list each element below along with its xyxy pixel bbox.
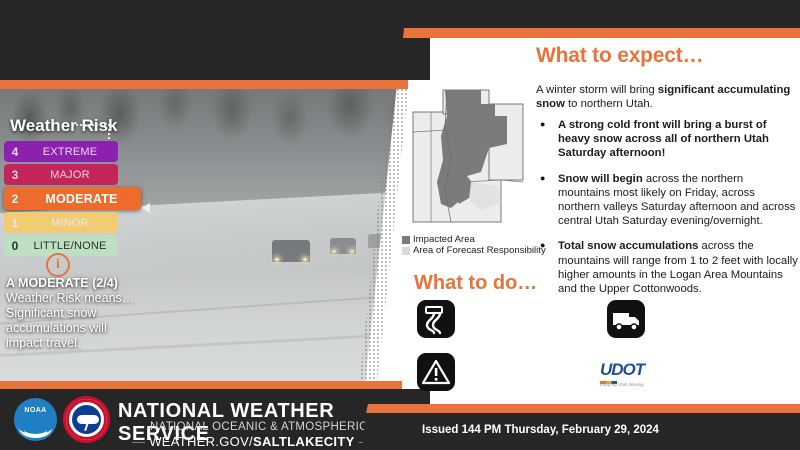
- map-legend-entry: Area of Forecast Responsibility: [402, 245, 546, 256]
- expect-bullet-bold: Total snow accumulations: [558, 240, 698, 252]
- udot-tagline: Keeping Utah Moving: [600, 382, 644, 387]
- risk-level-moderate: 2MODERATE: [4, 187, 141, 210]
- noaa-logo: NOAA: [14, 398, 57, 441]
- risk-explanation-bold: A MODERATE (2/4): [6, 276, 118, 290]
- risk-level-major: 3MAJOR: [4, 164, 118, 185]
- risk-explanation: A MODERATE (2/4) Weather Risk means… Sig…: [6, 276, 146, 351]
- expect-bullet-bold: A strong cold front will bring a burst o…: [558, 119, 769, 159]
- risk-level-number: 4: [4, 145, 26, 159]
- right-panel-top-dark: [352, 0, 800, 30]
- map-legend-label: Area of Forecast Responsibility: [413, 245, 546, 256]
- lead-part-1: A winter storm will bring: [536, 84, 658, 96]
- warning-triangle-icon: [417, 353, 455, 391]
- map-legend-entry: Impacted Area: [402, 234, 546, 245]
- footer-accent-bar: [0, 381, 402, 389]
- risk-level-extreme: 4EXTREME: [4, 141, 118, 162]
- agency-subtitle: NATIONAL OCEANIC & ATMOSPHERIC: [150, 421, 368, 433]
- map-legend: Impacted AreaArea of Forecast Responsibi…: [402, 234, 546, 256]
- risk-level-minor: 1MINOR: [4, 212, 118, 233]
- agency-website: — WEATHER.GOV/SALTLAKECITY —: [132, 434, 372, 449]
- risk-level-label: MODERATE: [26, 192, 141, 206]
- map-legend-label: Impacted Area: [413, 234, 475, 245]
- udot-wordmark: UDOT: [600, 360, 644, 380]
- risk-level-number: 2: [4, 192, 26, 206]
- what-to-expect-bullets: A strong cold front will bring a burst o…: [536, 118, 798, 307]
- expect-bullet: A strong cold front will bring a burst o…: [536, 118, 798, 161]
- todo-item-survival-kit: [417, 353, 455, 391]
- risk-explanation-rest: Weather Risk means… Significant snow acc…: [6, 291, 134, 350]
- nws-logo: [63, 396, 110, 443]
- expect-bullet: Snow will begin across the northern moun…: [536, 172, 798, 229]
- expect-bullet: Total snow accumulations across the moun…: [536, 239, 798, 296]
- issued-timestamp: Issued 144 PM Thursday, February 29, 202…: [422, 424, 659, 436]
- website-prefix: WEATHER.GOV/: [149, 434, 253, 449]
- risk-selected-arrow: [142, 203, 150, 213]
- right-panel-top-accent: [352, 28, 800, 38]
- risk-level-label: MAJOR: [26, 169, 118, 181]
- todo-item-traction: [607, 300, 645, 338]
- risk-level-label: MINOR: [26, 217, 118, 229]
- risk-level-number: 3: [4, 168, 26, 182]
- noaa-logo-text: NOAA: [14, 407, 57, 414]
- expect-bullet-bold: Snow will begin: [558, 173, 643, 185]
- what-to-expect-lead: A winter storm will bring significant ac…: [536, 83, 792, 111]
- right-panel-bottom-accent: [352, 404, 800, 413]
- map-legend-swatch: [402, 236, 410, 244]
- risk-scale: 4EXTREME3MAJOR2MODERATE1MINOR0LITTLE/NON…: [4, 141, 118, 258]
- lead-part-2: to northern Utah.: [565, 98, 653, 110]
- risk-pointer-line-h: [76, 124, 110, 127]
- what-to-expect-heading: What to expect…: [536, 44, 703, 68]
- truck-icon: [607, 300, 645, 338]
- header-accent-bar: [0, 80, 408, 89]
- slippery-road-icon: [417, 300, 455, 338]
- impact-area-map: [411, 86, 527, 226]
- todo-item-slippery-road: [417, 300, 455, 338]
- risk-level-number: 1: [4, 216, 26, 230]
- what-to-do-heading: What to do…: [414, 272, 537, 295]
- map-legend-swatch: [402, 247, 410, 255]
- risk-level-label: LITTLE/NONE: [26, 240, 118, 252]
- website-office: SALTLAKECITY: [253, 434, 355, 449]
- risk-level-label: EXTREME: [26, 146, 118, 158]
- weather-graphic: Mountain/Valley Snow Friday-Saturday Wea…: [0, 0, 800, 450]
- udot-logo: UDOT Keeping Utah Moving: [600, 360, 644, 387]
- info-circle-icon: i: [46, 253, 70, 277]
- header-bar: [0, 0, 430, 80]
- risk-level-number: 0: [4, 239, 26, 253]
